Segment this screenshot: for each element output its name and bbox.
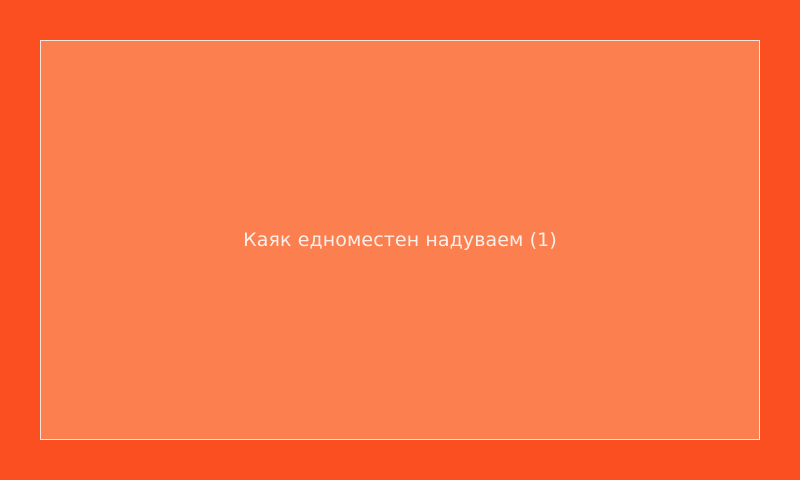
screen-root: Каяк едноместен надуваем (1) xyxy=(0,0,800,480)
image-alt-text: Каяк едноместен надуваем (1) xyxy=(227,229,573,251)
broken-image-placeholder[interactable]: Каяк едноместен надуваем (1) xyxy=(40,40,760,440)
